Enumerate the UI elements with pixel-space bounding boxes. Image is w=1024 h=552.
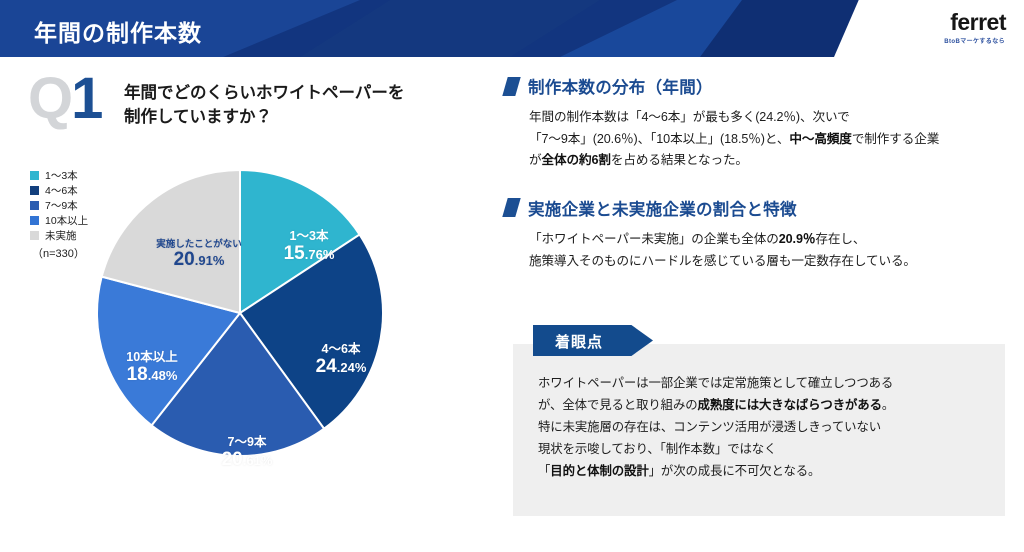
page-title: 年間の制作本数 bbox=[34, 14, 202, 48]
section-body-line: 年間の制作本数は「4〜6本」が最も多く(24.2％)、次いで bbox=[529, 107, 1005, 129]
pie-label-none: 実施したことがない 20.91% bbox=[137, 240, 261, 271]
legend-label-10-plus: 10本以上 bbox=[45, 213, 88, 228]
section-marker-icon bbox=[502, 77, 520, 96]
question-text-line1: 年間でどのくらいホワイトペーパーを bbox=[124, 82, 494, 106]
section-ratio: 実施企業と未実施企業の割合と特徴 「ホワイトペーパー未実施」の企業も全体の20.… bbox=[505, 196, 1005, 272]
section-body-line: 「7〜9本」(20.6％)、「10本以上」(18.5％)と、中〜高頻度で制作する… bbox=[529, 129, 1005, 151]
insight-body-line: 現状を示唆しており、「制作本数」ではなく bbox=[538, 438, 998, 460]
pie-chart: 1〜3本 15.76% 4〜6本 24.24% 7〜9本 20.61% 10本以… bbox=[95, 168, 385, 468]
legend-swatch-4-6 bbox=[30, 186, 39, 195]
pie-label-10-plus: 10本以上 18.48% bbox=[103, 351, 201, 386]
insight-body: ホワイトペーパーは一部企業では定常施策として確立しつつある が、全体で見ると取り… bbox=[538, 372, 998, 482]
brand-logo-text: ferret bbox=[950, 9, 1006, 36]
section-heading: 実施企業と未実施企業の割合と特徴 bbox=[505, 196, 1005, 220]
section-body: 年間の制作本数は「4〜6本」が最も多く(24.2％)、次いで 「7〜9本」(20… bbox=[505, 107, 1005, 172]
question-badge: Q1 bbox=[28, 70, 101, 128]
section-body-line: 施策導入そのものにハードルを感じている層も一定数存在している。 bbox=[529, 251, 1005, 273]
legend-label-none: 未実施 bbox=[45, 228, 77, 243]
header-decor-shape-2 bbox=[300, 0, 600, 57]
section-title: 実施企業と未実施企業の割合と特徴 bbox=[528, 196, 797, 220]
section-distribution: 制作本数の分布（年間） 年間の制作本数は「4〜6本」が最も多く(24.2％)、次… bbox=[505, 74, 1005, 172]
question-block: Q1 年間でどのくらいホワイトペーパーを 制作していますか？ bbox=[28, 74, 478, 138]
section-marker-icon bbox=[502, 198, 520, 217]
legend-label-7-9: 7〜9本 bbox=[45, 198, 78, 213]
question-text: 年間でどのくらいホワイトペーパーを 制作していますか？ bbox=[124, 82, 494, 130]
legend-swatch-7-9 bbox=[30, 201, 39, 210]
slide: 年間の制作本数 ferret BtoBマーケするなら Q1 年間でどのくらいホワ… bbox=[0, 0, 1024, 552]
insight-body-line: 特に未実施層の存在は、コンテンツ活用が浸透しきっていない bbox=[538, 416, 998, 438]
pie-label-1-3: 1〜3本 15.76% bbox=[263, 230, 355, 265]
insight-body-line: ホワイトペーパーは一部企業では定常施策として確立しつつある bbox=[538, 372, 998, 394]
pie-chart-svg bbox=[95, 168, 385, 458]
brand-logo-tagline: BtoBマーケするなら bbox=[944, 36, 1005, 45]
legend-swatch-none bbox=[30, 231, 39, 240]
question-text-line2: 制作していますか？ bbox=[124, 106, 494, 130]
legend-label-4-6: 4〜6本 bbox=[45, 183, 78, 198]
section-body-line: が全体の約6割を占める結果となった。 bbox=[529, 150, 1005, 172]
insight-body-line: 「目的と体制の設計」が次の成長に不可欠となる。 bbox=[538, 460, 998, 482]
question-badge-letter: Q bbox=[28, 66, 71, 131]
legend-swatch-10-plus bbox=[30, 216, 39, 225]
insight-tag: 着眼点 bbox=[533, 325, 653, 356]
section-body-line: 「ホワイトペーパー未実施」の企業も全体の20.9％存在し、 bbox=[529, 229, 1005, 251]
insight-body-line: が、全体で見ると取り組みの成熟度には大きなばらつきがある。 bbox=[538, 394, 998, 416]
legend-label-1-3: 1〜3本 bbox=[45, 168, 78, 183]
insight-tag-label: 着眼点 bbox=[555, 331, 603, 352]
pie-label-7-9: 7〜9本 20.61% bbox=[201, 436, 293, 471]
question-badge-number: 1 bbox=[71, 66, 101, 131]
pie-label-4-6: 4〜6本 24.24% bbox=[295, 343, 387, 378]
section-title: 制作本数の分布（年間） bbox=[528, 74, 713, 98]
brand-logo: ferret BtoBマーケするなら bbox=[834, 0, 1024, 57]
insights-column: 制作本数の分布（年間） 年間の制作本数は「4〜6本」が最も多く(24.2％)、次… bbox=[505, 74, 1005, 272]
slide-header: 年間の制作本数 ferret BtoBマーケするなら bbox=[0, 0, 1024, 57]
legend-swatch-1-3 bbox=[30, 171, 39, 180]
section-body: 「ホワイトペーパー未実施」の企業も全体の20.9％存在し、 施策導入そのものにハ… bbox=[505, 229, 1005, 272]
section-heading: 制作本数の分布（年間） bbox=[505, 74, 1005, 98]
